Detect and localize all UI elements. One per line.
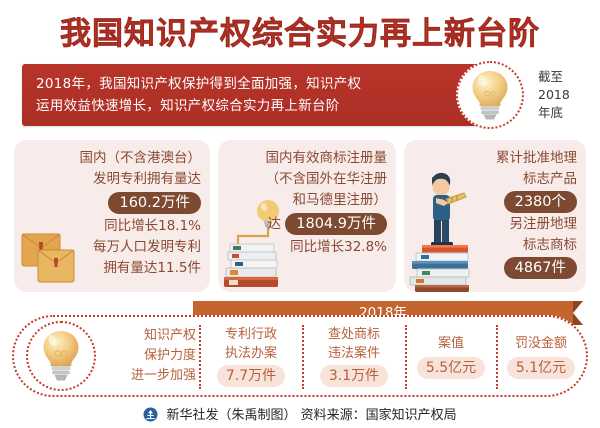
panel-geo-line-3: 另注册地理 [496, 214, 577, 235]
footer-credit: 新华社发（朱禹制图） 资料来源：国家知识产权局 [167, 408, 457, 423]
as-of-line-1: 截至 [538, 68, 570, 86]
panel-geo-value-1: 2380个 [504, 191, 577, 213]
panel-trademarks-line-1: 国内有效商标注册量 [266, 148, 388, 169]
cell-line-1: 专利行政 [200, 325, 302, 344]
panel-trademarks-line-2: （不含国外在华注册 [266, 169, 388, 190]
cell-line-2: 执法办案 [200, 344, 302, 363]
panel-geo-line-2: 标志产品 [496, 169, 577, 190]
as-of-line-2: 2018 [538, 86, 570, 104]
stat-panel-geo-indications: 累计批准地理 标志产品 2380个 另注册地理 标志商标 4867件 [404, 140, 586, 292]
panel-patents-value: 160.2万件 [108, 192, 201, 214]
panel-trademarks-line-3: 和马德里注册） [266, 190, 388, 211]
panel-geo-value-2: 4867件 [504, 257, 577, 279]
stat-cell-trademark-violations: 查处商标 违法案件 3.1万件 [303, 317, 405, 395]
envelopes-icon [18, 232, 80, 288]
intro-line-1: 2018年，我国知识产权保护得到全面加强，知识产权 [36, 73, 456, 95]
panel-trademarks-text: 国内有效商标注册量 （不含国外在华注册 和马德里注册） 达 1804.9万件 同… [266, 148, 388, 258]
cell-value: 5.1亿元 [507, 357, 575, 379]
stat-cell-case-value: 案值 5.5亿元 [406, 317, 496, 395]
panel-patents-text: 国内（不含港澳台） 发明专利拥有量达 160.2万件 同比增长18.1% 每万人… [80, 148, 202, 279]
footer: 新华社发（朱禹制图） 资料来源：国家知识产权局 [0, 404, 600, 426]
intro-banner: 2018年，我国知识产权保护得到全面加强，知识产权 运用效益快速增长，知识产权综… [22, 64, 578, 126]
lead-lightbulb-circle [26, 321, 96, 391]
enforcement-summary-row: 知识产权 保护力度 进一步加强 专利行政 执法办案 7.7万件 查处商标 违法案… [12, 315, 588, 397]
intro-banner-bar: 2018年，我国知识产权保护得到全面加强，知识产权 运用效益快速增长，知识产权综… [22, 64, 492, 126]
panel-geo-text: 累计批准地理 标志产品 2380个 另注册地理 标志商标 4867件 [496, 148, 577, 279]
stat-panel-patents: 国内（不含港澳台） 发明专利拥有量达 160.2万件 同比增长18.1% 每万人… [14, 140, 210, 292]
stat-cell-fines-amount: 罚没金额 5.1亿元 [497, 317, 585, 395]
lead-text: 知识产权 保护力度 进一步加强 [110, 326, 196, 386]
lightbulb-icon [470, 69, 510, 121]
panel-geo-line-4: 标志商标 [496, 235, 577, 256]
person-with-telescope [431, 173, 466, 246]
lightbulb-icon-circle [456, 61, 524, 129]
person-telescope-books-icon [406, 168, 486, 292]
cell-value: 5.5亿元 [417, 357, 485, 379]
cell-line-1: 查处商标 [303, 325, 405, 344]
cell-line-1: 案值 [406, 334, 496, 353]
xinhua-logo-icon [143, 407, 158, 426]
intro-line-2: 运用效益快速增长，知识产权综合实力再上新台阶 [36, 95, 456, 117]
lead-line-1: 知识产权 [110, 326, 196, 346]
lead-line-3: 进一步加强 [110, 366, 196, 386]
infographic-page: 我国知识产权综合实力再上新台阶 2018年，我国知识产权保护得到全面加强，知识产… [0, 0, 600, 428]
intro-text: 2018年，我国知识产权保护得到全面加强，知识产权 运用效益快速增长，知识产权综… [36, 73, 456, 117]
stat-panels: 国内（不含港澳台） 发明专利拥有量达 160.2万件 同比增长18.1% 每万人… [14, 140, 586, 298]
book-stack [410, 245, 469, 292]
as-of-line-3: 年底 [538, 104, 570, 122]
panel-trademarks-line-4: 同比增长32.8% [266, 237, 388, 258]
panel-geo-line-1: 累计批准地理 [496, 148, 577, 169]
panel-trademarks-prefix: 达 [267, 216, 281, 232]
stat-cell-patent-enforcement: 专利行政 执法办案 7.7万件 [200, 317, 302, 395]
lead-line-2: 保护力度 [110, 346, 196, 366]
page-title: 我国知识产权综合实力再上新台阶 [0, 8, 600, 53]
cell-line-2: 违法案件 [303, 344, 405, 363]
stat-panel-trademarks: 国内有效商标注册量 （不含国外在华注册 和马德里注册） 达 1804.9万件 同… [218, 140, 396, 292]
panel-patents-line-5: 拥有量达11.5件 [80, 258, 202, 279]
panel-trademarks-value: 1804.9万件 [285, 213, 387, 235]
cell-line-1: 罚没金额 [497, 334, 585, 353]
cell-value: 7.7万件 [217, 365, 285, 387]
cell-value: 3.1万件 [320, 365, 388, 387]
panel-patents-line-4: 每万人口发明专利 [80, 237, 202, 258]
as-of-date: 截至 2018 年底 [538, 68, 570, 122]
lightbulb-icon [41, 329, 81, 383]
panel-patents-line-2: 发明专利拥有量达 [80, 169, 202, 190]
panel-patents-line-1: 国内（不含港澳台） [80, 148, 202, 169]
panel-patents-line-3: 同比增长18.1% [80, 216, 202, 237]
